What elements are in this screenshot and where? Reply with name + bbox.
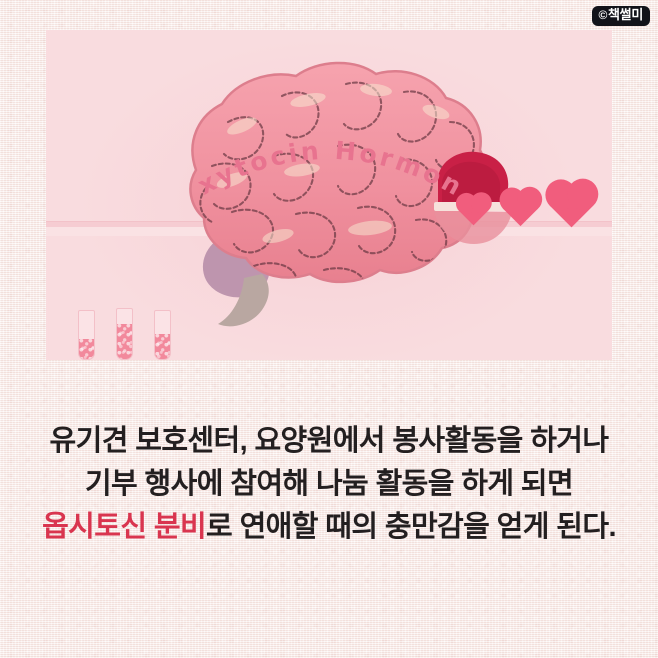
caption-highlight: 옵시토신 분비	[42, 511, 206, 543]
caption-line-3-rest: 로 연애할 때의 충만감을 얻게 된다.	[206, 511, 616, 543]
caption-line-1: 유기견 보호센터, 요양원에서 봉사활동을 하거나	[0, 420, 658, 463]
caption-line-3: 옵시토신 분비로 연애할 때의 충만감을 얻게 된다.	[0, 506, 658, 549]
copyright-icon: ©	[598, 9, 607, 23]
watermark-label: 책썰미	[608, 8, 643, 23]
watermark-badge: © 책썰미	[592, 6, 650, 26]
caption-block: 유기견 보호센터, 요양원에서 봉사활동을 하거나 기부 행사에 참여해 나눔 …	[0, 420, 658, 549]
illustration-card: Oxytocin Hormone	[46, 30, 612, 360]
caption-line-2: 기부 행사에 참여해 나눔 활동을 하게 되면	[0, 463, 658, 506]
